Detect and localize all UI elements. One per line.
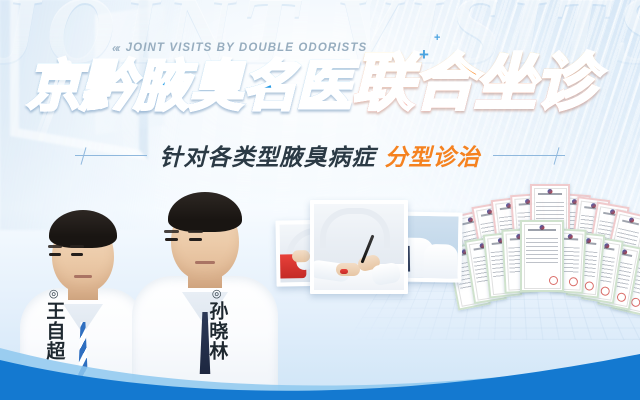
main-title: 京黔腋臭名医 联合坐诊 — [26, 52, 596, 114]
photo-center-image — [314, 204, 404, 290]
divider-left — [75, 155, 147, 156]
photo-card-center — [310, 200, 408, 294]
title-orange-segment: 联合坐诊 — [352, 52, 596, 114]
subtitle-main: 针对各类型腋臭病症 — [159, 145, 375, 171]
sparkle-plus-icon-1: + — [419, 46, 429, 63]
certificate-item-featured — [520, 220, 564, 292]
photo-card-group — [276, 196, 456, 304]
title-blue-segment: 京黔腋臭名医 — [26, 59, 350, 114]
subtitle-row: 针对各类型腋臭病症 分型诊治 — [0, 138, 640, 172]
subtitle-text: 针对各类型腋臭病症 分型诊治 — [159, 138, 480, 172]
subtitle-accent: 分型诊治 — [385, 145, 481, 171]
doctor-2-name-mark-icon: ◎ — [212, 288, 222, 299]
sparkle-plus-icon-2: + — [434, 33, 440, 44]
promo-banner: JOINT VISITS «‹ JOINT VISITS BY DOUBLE O… — [0, 0, 640, 400]
certificate-stack — [452, 188, 640, 310]
doctor-1-name-mark-icon: ◎ — [49, 288, 59, 299]
wave-dark-decoration — [0, 330, 640, 400]
divider-right — [493, 155, 565, 156]
